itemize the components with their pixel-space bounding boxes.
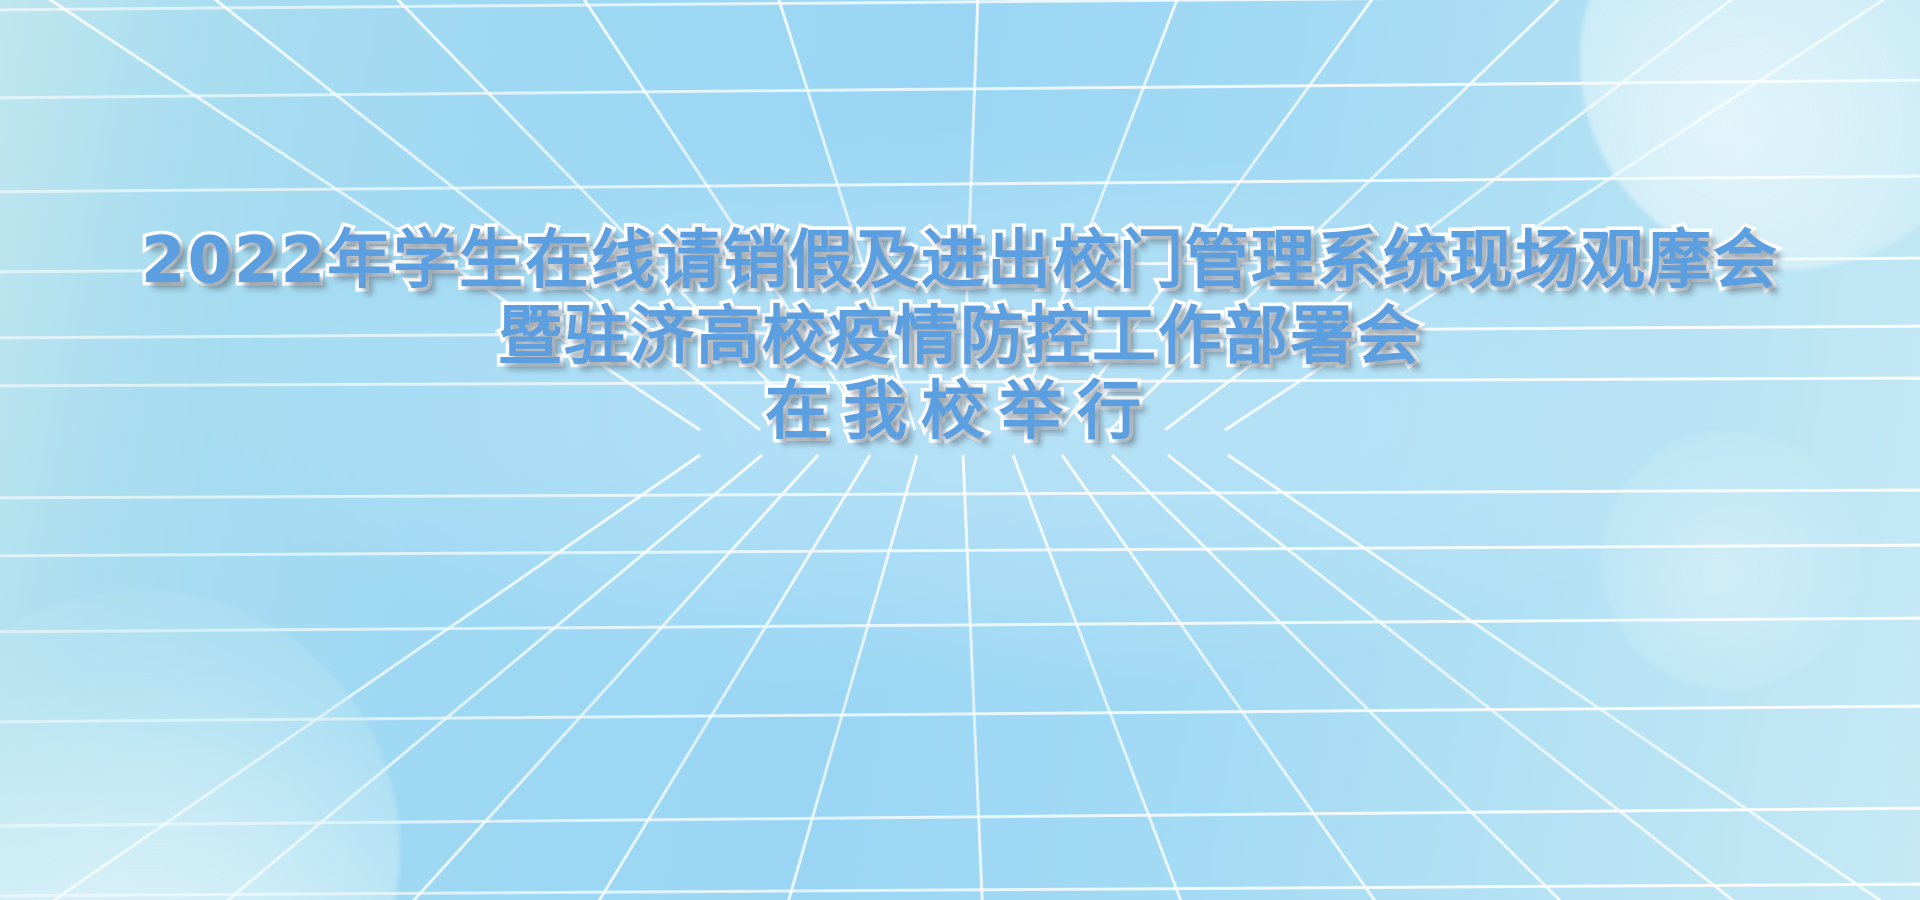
banner-headline: 2022年学生在线请销假及进出校门管理系统现场观摩会 暨驻济高校疫情防控工作部署… [0,224,1920,451]
event-banner: 2022年学生在线请销假及进出校门管理系统现场观摩会 暨驻济高校疫情防控工作部署… [0,0,1920,900]
headline-line-2: 暨驻济高校疫情防控工作部署会 [0,300,1920,376]
headline-line-1: 2022年学生在线请销假及进出校门管理系统现场观摩会 [0,224,1920,300]
headline-line-3: 在我校举行 [0,375,1920,451]
